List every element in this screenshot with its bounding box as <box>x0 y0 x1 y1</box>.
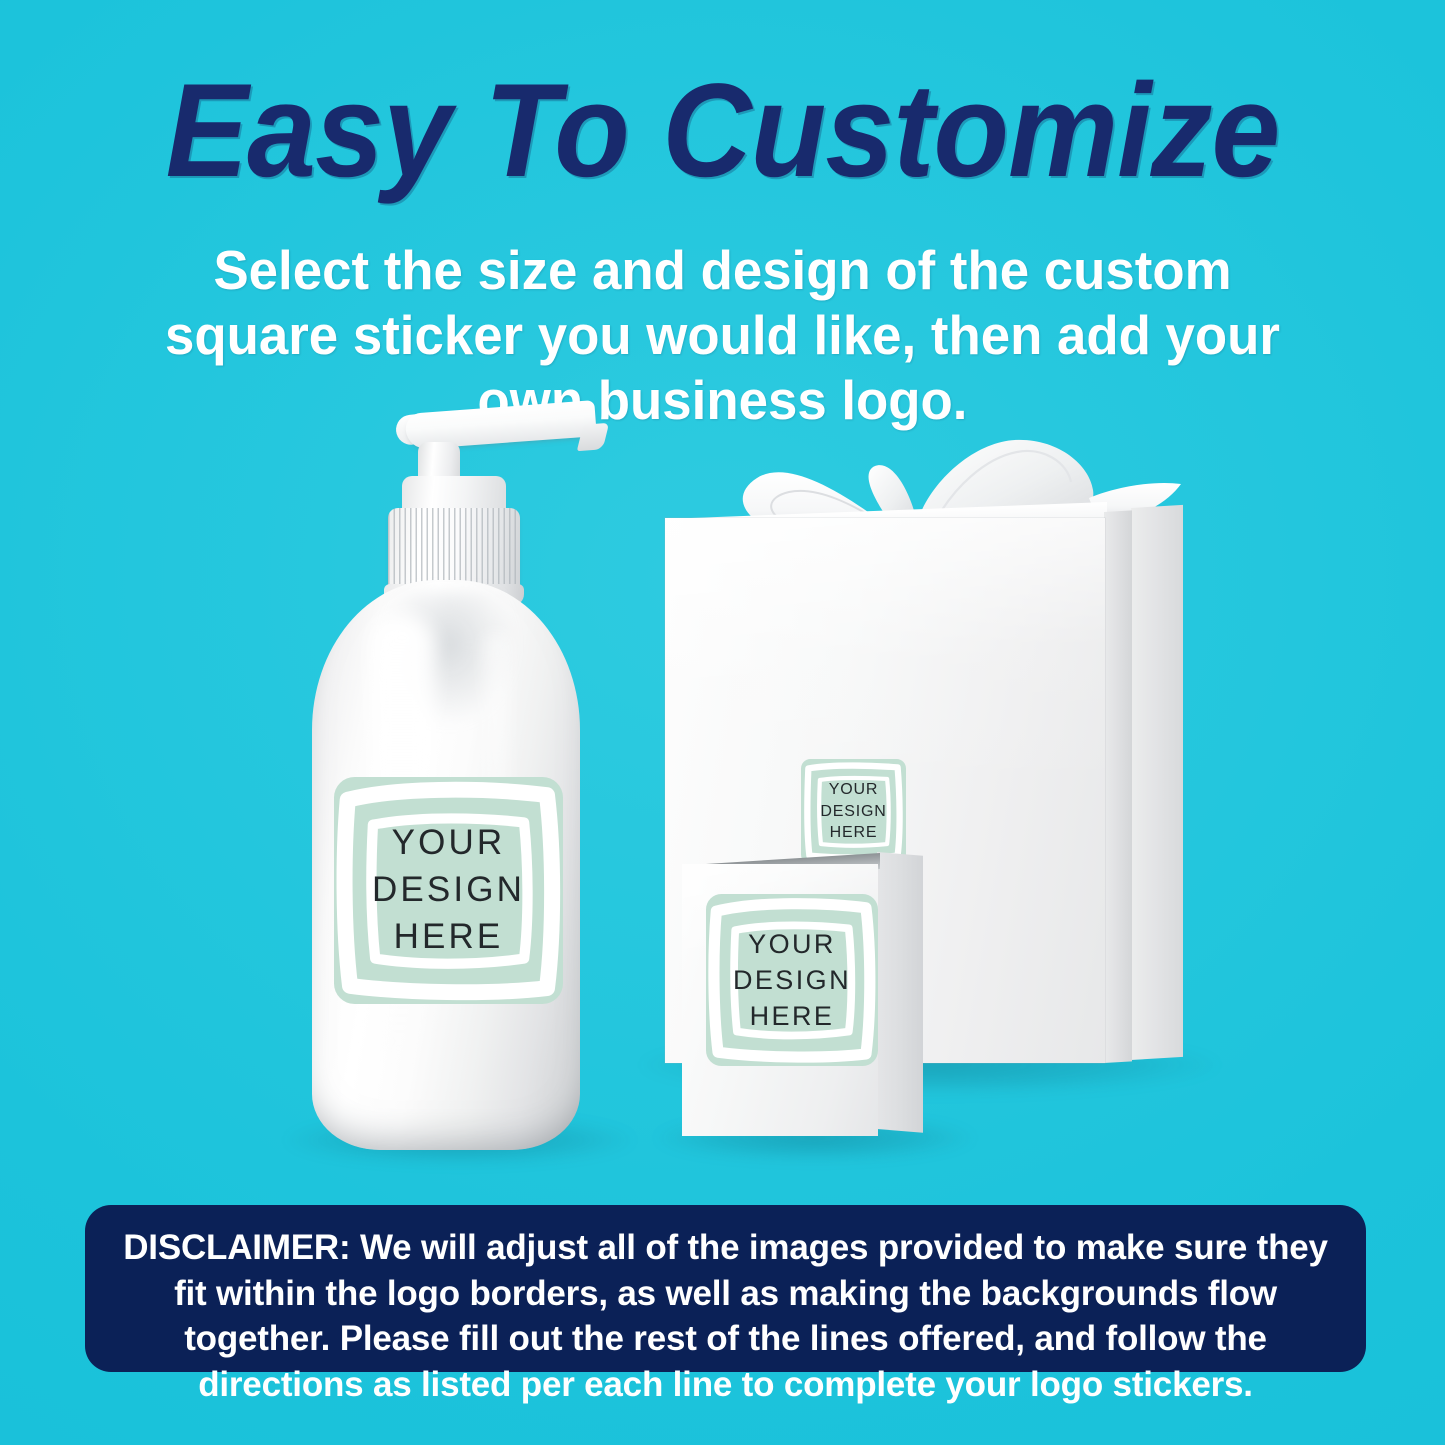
sticker-text: YOUR DESIGN HERE <box>706 894 878 1066</box>
sticker-text: YOUR DESIGN HERE <box>801 759 906 864</box>
sticker-line-1: YOUR <box>829 779 878 800</box>
sticker-line-3: HERE <box>830 822 878 843</box>
sticker-bottle-label[interactable]: YOUR DESIGN HERE <box>334 777 563 1004</box>
sticker-text: YOUR DESIGN HERE <box>334 777 563 1004</box>
sticker-line-1: YOUR <box>748 926 836 962</box>
sticker-line-2: DESIGN <box>820 801 886 822</box>
pump-bottle: YOUR DESIGN HERE <box>288 402 618 1152</box>
sticker-line-3: HERE <box>750 998 835 1034</box>
pump-nozzle-tip <box>577 423 609 451</box>
sticker-carton[interactable]: YOUR DESIGN HERE <box>706 894 878 1066</box>
sticker-line-2: DESIGN <box>372 867 525 914</box>
sticker-line-1: YOUR <box>392 820 506 867</box>
carton-side-panel <box>877 852 923 1133</box>
disclaimer-text: DISCLAIMER: We will adjust all of the im… <box>123 1228 1328 1404</box>
infographic-canvas: Easy To Customize Select the size and de… <box>0 0 1445 1445</box>
carton-box: YOUR DESIGN HERE <box>682 850 950 1142</box>
sticker-line-2: DESIGN <box>733 962 851 998</box>
disclaimer-banner: DISCLAIMER: We will adjust all of the im… <box>85 1205 1366 1372</box>
page-title: Easy To Customize <box>51 62 1395 200</box>
gift-box-side-panel-inner <box>1104 510 1132 1063</box>
sticker-line-3: HERE <box>394 914 504 961</box>
gift-box-side-panel-outer <box>1131 505 1183 1060</box>
sticker-gift-box[interactable]: YOUR DESIGN HERE <box>801 759 906 864</box>
product-scene: YOUR DESIGN HERE YOUR DES <box>0 380 1445 1190</box>
